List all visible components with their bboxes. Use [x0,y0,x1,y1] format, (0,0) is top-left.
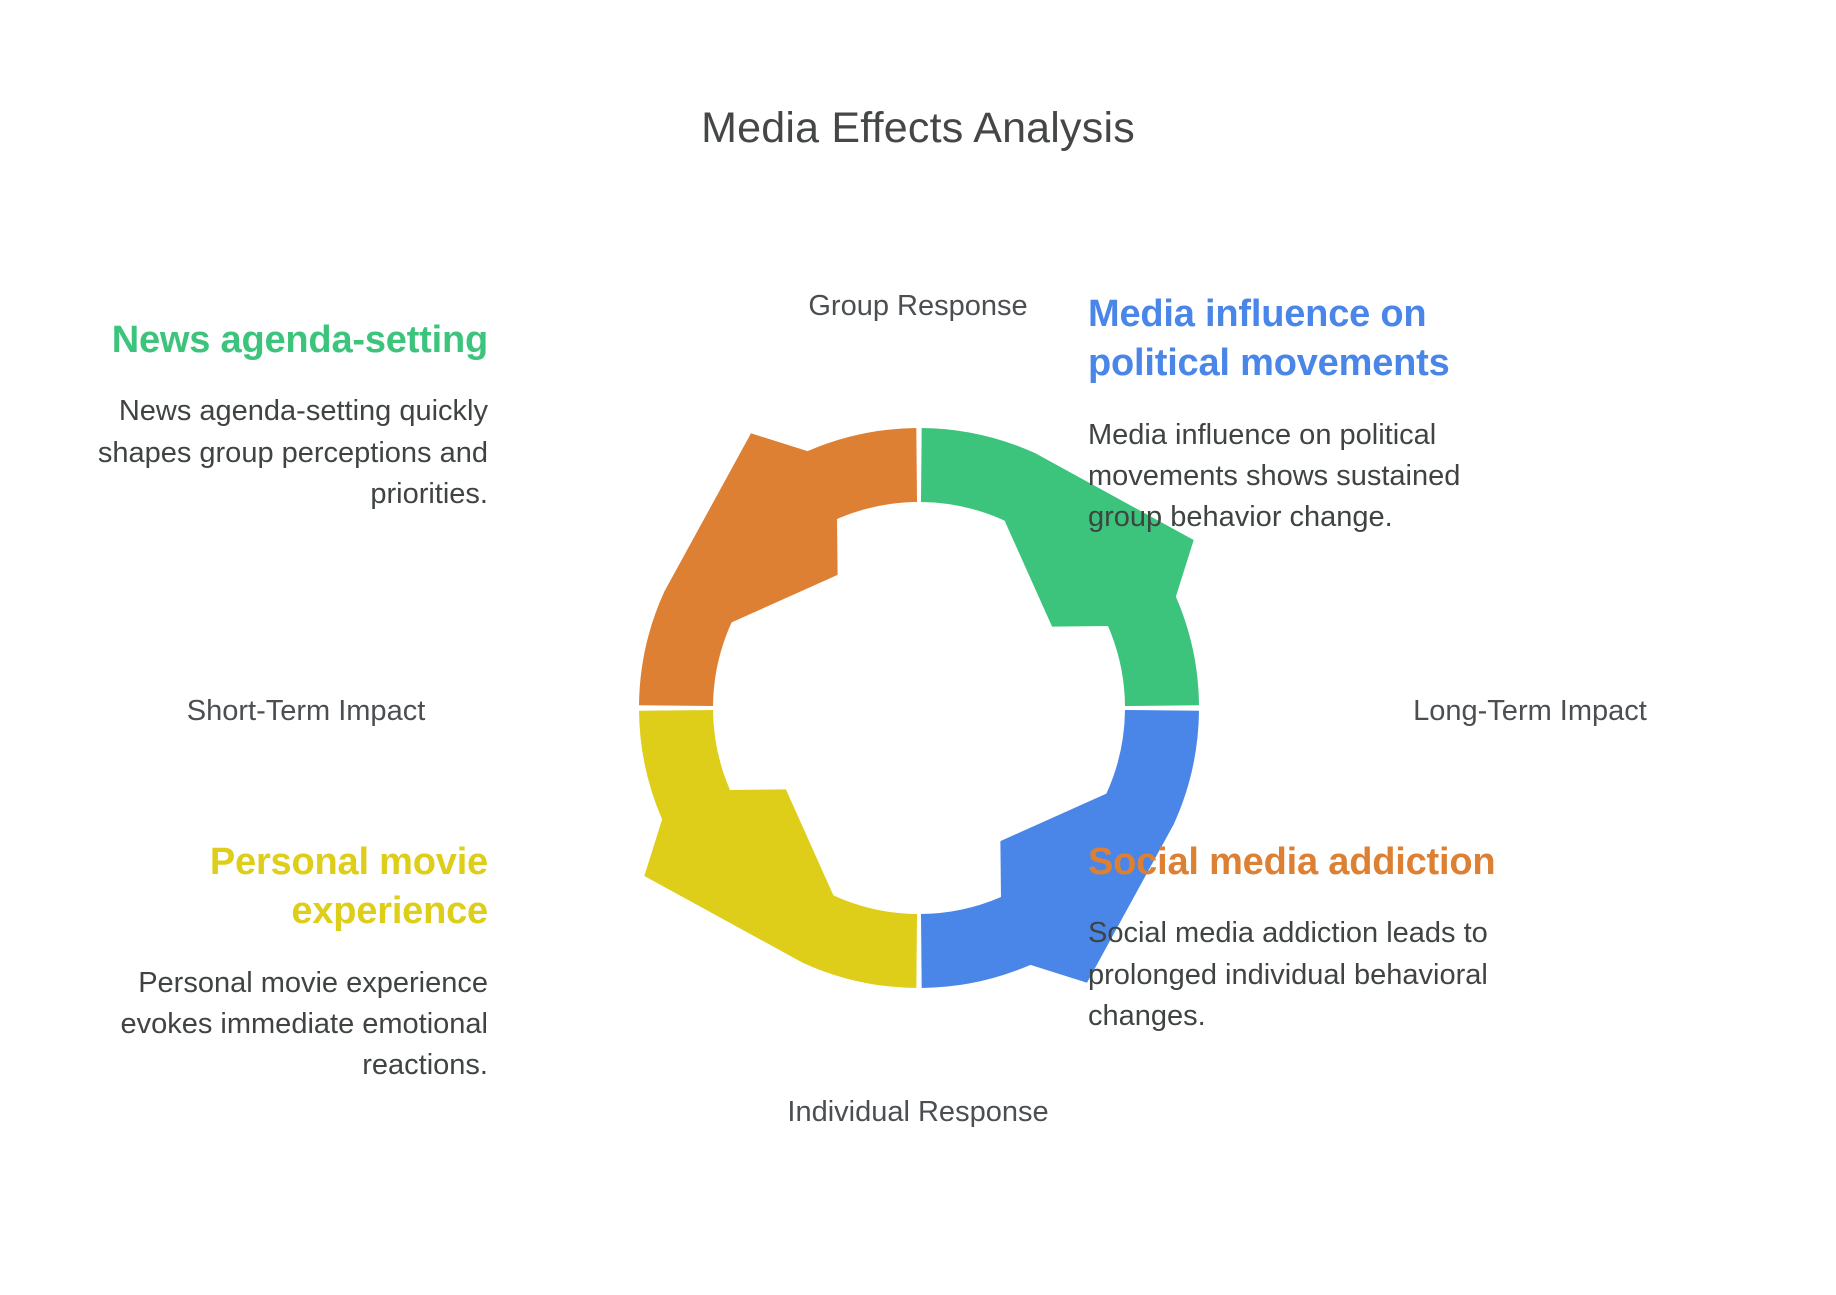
ring-segment-yellow [639,710,917,988]
quadrant-heading: News agenda-setting [78,316,488,365]
ring-segment-orange [639,428,917,706]
cycle-ring-diagram [0,0,1836,1295]
quadrant-heading: Social media addiction [1088,838,1508,887]
quadrant-body: Personal movie experience evokes immedia… [78,963,488,1087]
quadrant-heading: Personal movie experience [78,838,488,937]
quadrant-block-social-media-addiction: Social media addiction Social media addi… [1088,838,1508,1037]
quadrant-body: Media influence on political movements s… [1088,415,1508,539]
quadrant-block-news-agenda-setting: News agenda-setting News agenda-setting … [78,316,488,515]
diagram-canvas: Media Effects Analysis Group Response In… [0,0,1836,1295]
quadrant-block-personal-movie-experience: Personal movie experience Personal movie… [78,838,488,1086]
quadrant-body: News agenda-setting quickly shapes group… [78,391,488,515]
quadrant-heading: Media influence on political movements [1088,290,1508,389]
quadrant-body: Social media addiction leads to prolonge… [1088,913,1508,1037]
quadrant-block-media-influence-political-movements: Media influence on political movements M… [1088,290,1508,538]
